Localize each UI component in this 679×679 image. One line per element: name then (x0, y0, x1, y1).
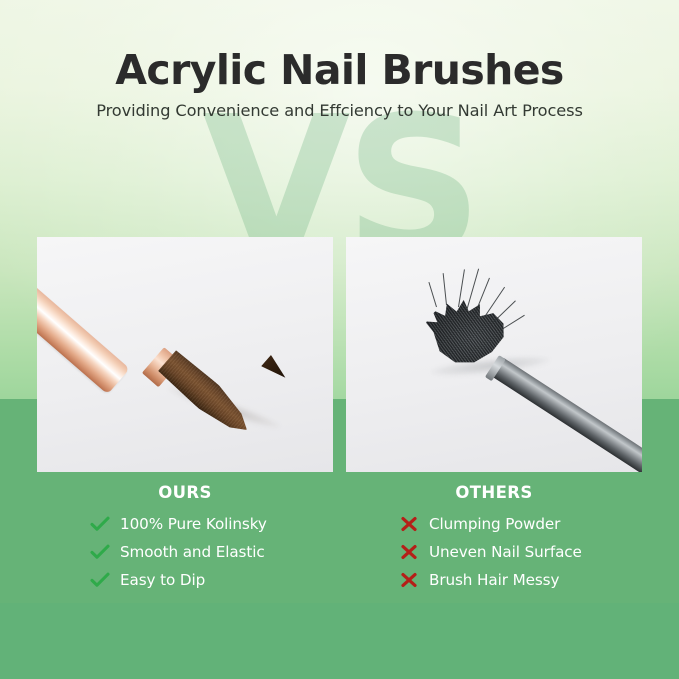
kolinsky-bristle-head (157, 349, 257, 442)
cross-icon (398, 542, 420, 562)
ours-brush-photo (37, 237, 333, 472)
page-title: Acrylic Nail Brushes (0, 48, 679, 92)
photo-panel-ours (37, 237, 333, 472)
photo-panel-others (346, 237, 642, 472)
column-heading-ours: OURS (37, 484, 333, 502)
messy-brush-group (346, 237, 642, 472)
dark-brush-handle (490, 357, 642, 472)
comparison-column-others: OTHERS Clumping Powder (346, 484, 642, 594)
feature-list-ours: 100% Pure Kolinsky Smooth and Elastic (37, 510, 333, 594)
stray-bristle (428, 282, 437, 307)
feature-label: Smooth and Elastic (120, 543, 265, 561)
feature-label: Clumping Powder (429, 515, 560, 533)
feature-label: 100% Pure Kolinsky (120, 515, 267, 533)
list-item: 100% Pure Kolinsky (89, 510, 333, 538)
product-photo-panels (37, 237, 642, 472)
column-heading-others: OTHERS (346, 484, 642, 502)
feature-label: Easy to Dip (120, 571, 205, 589)
check-icon (89, 570, 111, 590)
list-item: Uneven Nail Surface (398, 538, 642, 566)
feature-label: Uneven Nail Surface (429, 543, 582, 561)
check-icon (89, 542, 111, 562)
list-item: Smooth and Elastic (89, 538, 333, 566)
check-icon (89, 514, 111, 534)
page-subtitle: Providing Convenience and Effciency to Y… (0, 101, 679, 120)
comparison-lists: OURS 100% Pure Kolinsky (37, 484, 642, 594)
brush-pointed-tip (261, 355, 290, 383)
stray-bristle (502, 315, 525, 330)
feature-label: Brush Hair Messy (429, 571, 559, 589)
background-band-bottom (0, 603, 679, 679)
others-brush-photo (346, 237, 642, 472)
rose-gold-handle (37, 245, 130, 394)
product-comparison-infographic: VS Acrylic Nail Brushes Providing Conven… (0, 0, 679, 679)
stray-bristle (492, 300, 516, 323)
stray-bristle (443, 273, 447, 305)
list-item: Clumping Powder (398, 510, 642, 538)
cross-icon (398, 570, 420, 590)
header: Acrylic Nail Brushes Providing Convenien… (0, 48, 679, 121)
list-item: Brush Hair Messy (398, 566, 642, 594)
list-item: Easy to Dip (89, 566, 333, 594)
comparison-column-ours: OURS 100% Pure Kolinsky (37, 484, 333, 594)
feature-list-others: Clumping Powder Uneven Nail Surface (346, 510, 642, 594)
cross-icon (398, 514, 420, 534)
